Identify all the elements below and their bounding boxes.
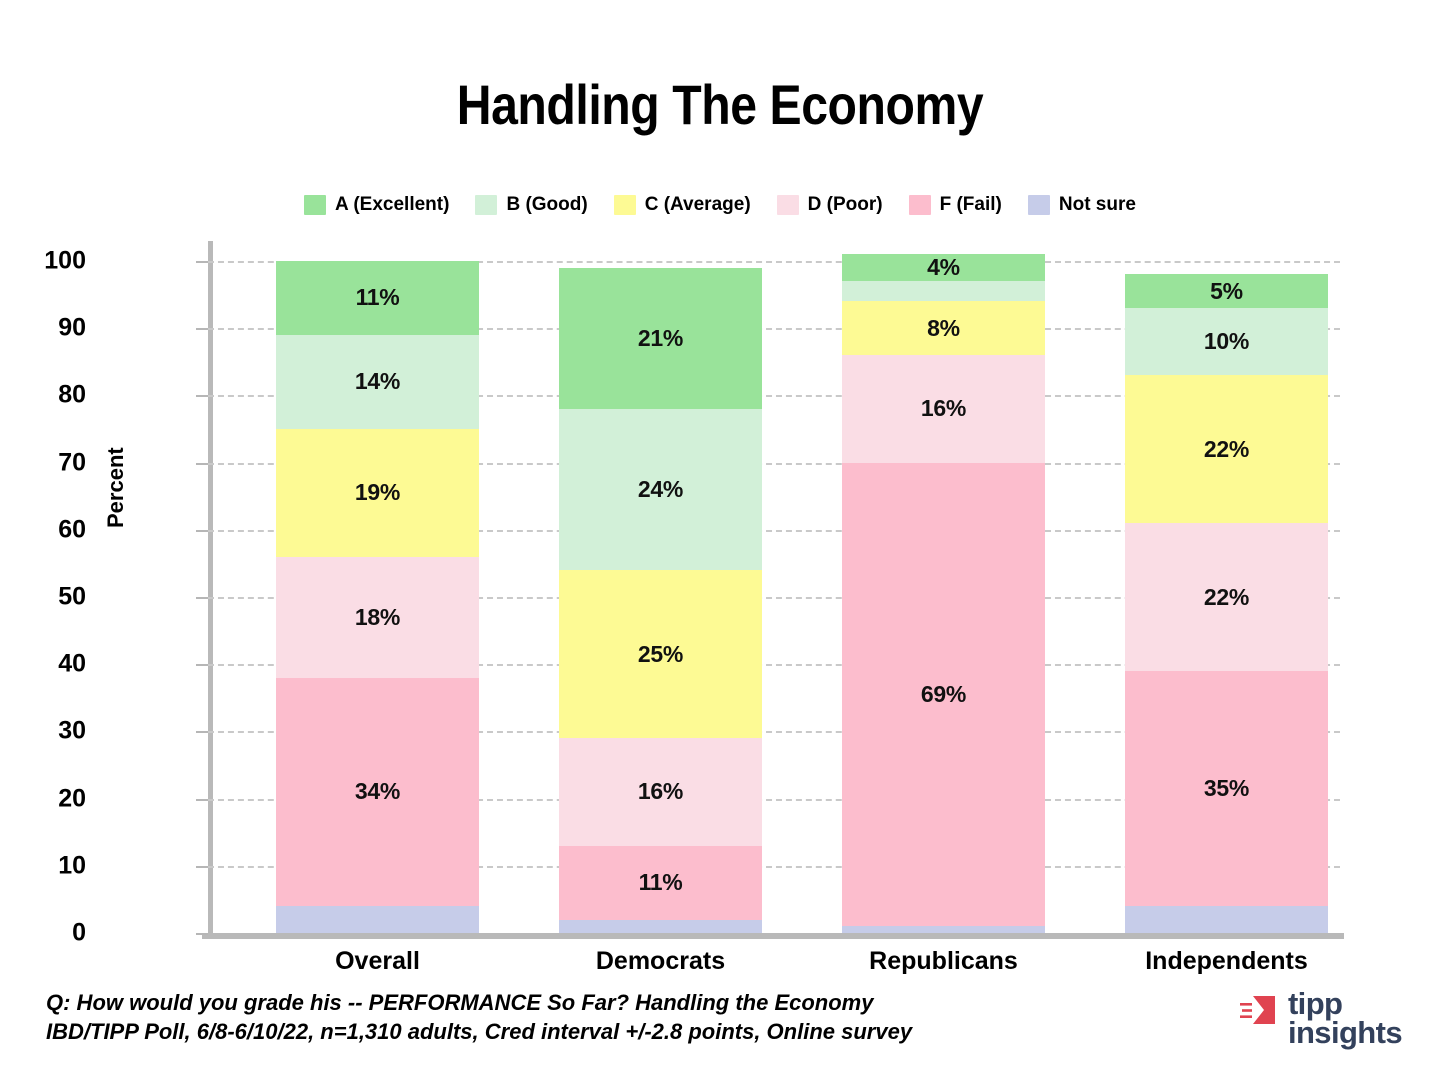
y-tick-mark <box>196 866 208 868</box>
stacked-bar[interactable]: 11%16%25%24%21% <box>559 268 762 933</box>
bar-segment-label: 4% <box>927 254 960 281</box>
bar-segment[interactable] <box>842 281 1045 301</box>
x-axis-category-label: Republicans <box>842 947 1045 976</box>
bar-segment[interactable]: 18% <box>276 557 479 678</box>
y-tick-label: 90 <box>26 314 86 343</box>
tipp-insights-logo: tipp insights <box>1239 990 1402 1047</box>
bar-group: 35%22%22%10%5%Independents <box>1125 241 1328 933</box>
bar-segment[interactable]: 19% <box>276 429 479 557</box>
bar-segment[interactable]: 11% <box>559 846 762 920</box>
bar-segment-label: 24% <box>638 476 683 503</box>
y-tick-mark <box>196 933 208 935</box>
y-tick-label: 70 <box>26 448 86 477</box>
y-tick-label: 60 <box>26 515 86 544</box>
bar-segment-label: 19% <box>355 479 400 506</box>
tipp-arrow-icon <box>1239 994 1283 1033</box>
stacked-bar[interactable]: 35%22%22%10%5% <box>1125 274 1328 933</box>
y-tick-mark <box>196 463 208 465</box>
bar-segment-label: 35% <box>1204 775 1249 802</box>
bar-segment-label: 34% <box>355 778 400 805</box>
stacked-bar[interactable]: 69%16%8%4% <box>842 254 1045 933</box>
y-tick-label: 20 <box>26 784 86 813</box>
bar-segment[interactable]: 4% <box>842 254 1045 281</box>
bar-segment[interactable]: 14% <box>276 335 479 429</box>
bar-segment[interactable]: 16% <box>842 355 1045 463</box>
logo-line-insights: insights <box>1288 1019 1402 1048</box>
x-axis-category-label: Democrats <box>559 947 762 976</box>
bar-group: 11%16%25%24%21%Democrats <box>559 241 762 933</box>
x-axis-category-label: Overall <box>276 947 479 976</box>
y-tick-label: 80 <box>26 381 86 410</box>
footnote-source: IBD/TIPP Poll, 6/8-6/10/22, n=1,310 adul… <box>46 1017 912 1046</box>
y-tick-mark <box>196 261 208 263</box>
y-tick-label: 40 <box>26 650 86 679</box>
bar-segment[interactable]: 22% <box>1125 523 1328 671</box>
bar-segment[interactable]: 22% <box>1125 375 1328 523</box>
stacked-bar[interactable]: 34%18%19%14%11% <box>276 261 479 933</box>
y-axis-line <box>208 241 213 933</box>
bar-segment-label: 16% <box>638 778 683 805</box>
y-axis-title: Percent <box>103 447 129 528</box>
bar-group: 34%18%19%14%11%Overall <box>276 241 479 933</box>
plot-area: 010203040506070809010034%18%19%14%11%Ove… <box>208 241 1340 933</box>
y-tick-mark <box>196 395 208 397</box>
bar-segment-label: 14% <box>355 368 400 395</box>
footnote: Q: How would you grade his -- PERFORMANC… <box>46 988 912 1046</box>
y-tick-mark <box>196 597 208 599</box>
y-tick-mark <box>196 731 208 733</box>
y-tick-mark <box>196 799 208 801</box>
bar-segment-label: 10% <box>1204 328 1249 355</box>
y-tick-mark <box>196 530 208 532</box>
bar-segment[interactable]: 10% <box>1125 308 1328 375</box>
bar-group: 69%16%8%4%Republicans <box>842 241 1045 933</box>
bar-segment[interactable]: 11% <box>276 261 479 335</box>
bar-segment-label: 11% <box>356 284 400 311</box>
x-axis-category-label: Independents <box>1125 947 1328 976</box>
y-tick-mark <box>196 328 208 330</box>
bar-segment-label: 16% <box>921 395 966 422</box>
footnote-question: Q: How would you grade his -- PERFORMANC… <box>46 988 912 1017</box>
bar-segment-label: 11% <box>639 869 683 896</box>
bar-segment[interactable]: 24% <box>559 409 762 570</box>
bar-segment[interactable] <box>1125 906 1328 933</box>
bar-segment[interactable]: 34% <box>276 678 479 906</box>
bar-segment[interactable]: 69% <box>842 463 1045 927</box>
bar-segment-label: 69% <box>921 681 966 708</box>
bar-segment-label: 18% <box>355 604 400 631</box>
bar-segment[interactable]: 5% <box>1125 274 1328 308</box>
bar-segment-label: 25% <box>638 641 683 668</box>
y-tick-label: 0 <box>26 919 86 948</box>
bar-segment[interactable] <box>276 906 479 933</box>
bar-segment-label: 21% <box>638 325 683 352</box>
y-tick-label: 10 <box>26 851 86 880</box>
y-tick-mark <box>196 664 208 666</box>
bar-segment[interactable]: 35% <box>1125 671 1328 906</box>
logo-wordmark: tipp insights <box>1288 990 1402 1047</box>
bar-segment-label: 22% <box>1204 436 1249 463</box>
x-axis-line <box>202 933 1344 939</box>
bar-segment[interactable] <box>842 926 1045 933</box>
bar-segment[interactable] <box>559 920 762 933</box>
bar-segment-label: 8% <box>927 315 960 342</box>
bar-segment[interactable]: 8% <box>842 301 1045 355</box>
y-tick-label: 30 <box>26 717 86 746</box>
y-tick-label: 50 <box>26 583 86 612</box>
bar-segment[interactable]: 21% <box>559 268 762 409</box>
bar-segment-label: 22% <box>1204 584 1249 611</box>
plot-wrapper: Percent 010203040506070809010034%18%19%1… <box>0 0 1440 1080</box>
y-tick-label: 100 <box>26 247 86 276</box>
bar-segment-label: 5% <box>1210 278 1243 305</box>
bar-segment[interactable]: 25% <box>559 570 762 738</box>
bar-segment[interactable]: 16% <box>559 738 762 846</box>
